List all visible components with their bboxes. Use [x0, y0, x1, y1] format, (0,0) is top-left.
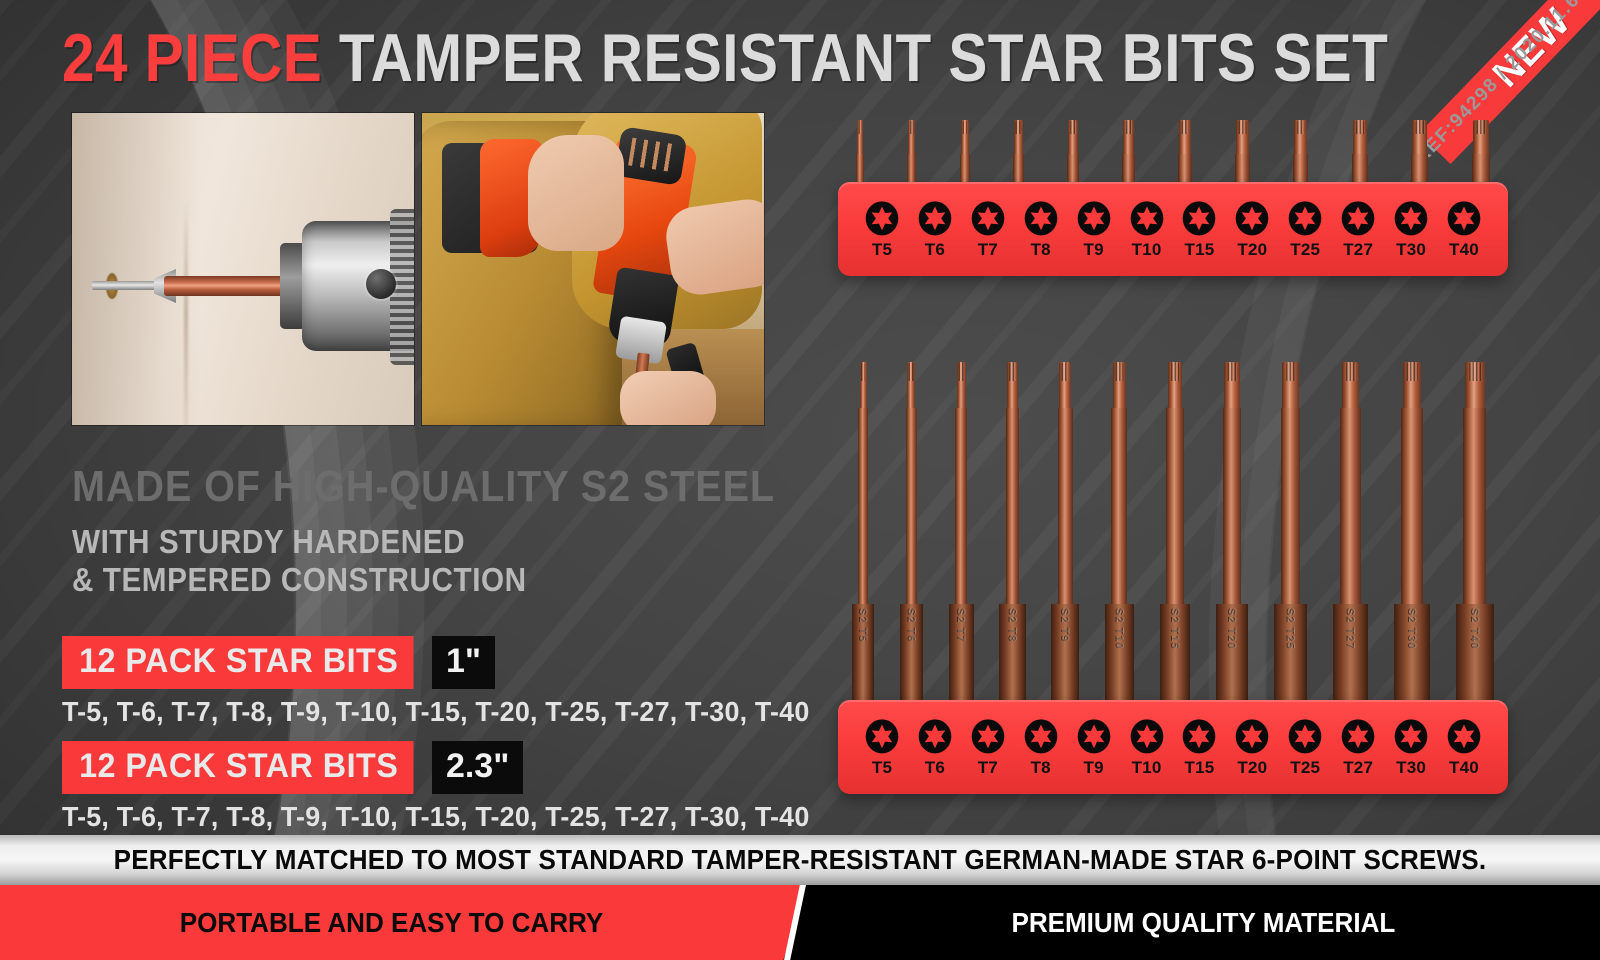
- star-bit-shank: [906, 408, 917, 604]
- long-holder-slots: T5T6T7T8T9T10T15T20T25T27T30T40: [856, 718, 1490, 778]
- photo-worker-using-cordless-drill: [422, 113, 764, 425]
- torx-star-icon: [1288, 200, 1322, 237]
- bit-slot[interactable]: T7: [962, 718, 1014, 778]
- star-bit-hex-shank: S2 T6: [900, 604, 923, 700]
- bit-slot[interactable]: T15: [1173, 200, 1225, 260]
- bit-slot[interactable]: T30: [1385, 718, 1437, 778]
- star-bit-tip: [1465, 362, 1485, 408]
- title-highlight: 24 PIECE: [62, 20, 322, 96]
- worker-upper-hand: [528, 135, 624, 251]
- star-bit-tip: [907, 362, 915, 408]
- star-bit: [903, 120, 920, 182]
- bit-slot[interactable]: T25: [1279, 718, 1331, 778]
- bit-slot[interactable]: T30: [1385, 200, 1437, 260]
- star-bit-engraving: S2 T10: [1113, 608, 1125, 649]
- star-bit-shank: [1352, 154, 1368, 182]
- star-bit-shank: [1281, 408, 1300, 604]
- torx-star-icon: [1341, 718, 1375, 755]
- star-bit-engraving: S2 T7: [955, 608, 967, 642]
- star-bit-engraving: S2 T5: [857, 608, 869, 642]
- star-bit-tip: [1113, 362, 1126, 408]
- long-bit-set: S2 T5S2 T6S2 T7S2 T8S2 T9S2 T10S2 T15S2 …: [838, 362, 1508, 794]
- bit-slot-label: T10: [1132, 758, 1162, 778]
- bit-slot[interactable]: T9: [1068, 200, 1120, 260]
- star-bit: S2 T15: [1160, 362, 1191, 700]
- bit-slot-label: T5: [872, 240, 892, 260]
- claim-right-text: PREMIUM QUALITY MATERIAL: [1011, 907, 1395, 939]
- bit-slot-label: T15: [1184, 758, 1214, 778]
- star-bit-shank: [856, 154, 864, 182]
- screw-shank: [92, 281, 158, 290]
- pack-1-size-list: T-5, T-6, T-7, T-8, T-9, T-10, T-15, T-2…: [62, 696, 809, 728]
- star-bit-tip: [908, 120, 915, 154]
- star-bit-engraving: S2 T6: [905, 608, 917, 642]
- bit-slot-label: T7: [978, 240, 998, 260]
- bit-slot[interactable]: T8: [1015, 200, 1067, 260]
- torx-star-icon: [865, 718, 899, 755]
- star-bit: S2 T25: [1274, 362, 1308, 700]
- torx-star-icon: [1235, 200, 1269, 237]
- star-bit: S2 T8: [999, 362, 1025, 700]
- star-bit-tip: [957, 362, 966, 408]
- star-bit: [956, 120, 974, 182]
- star-bit: S2 T30: [1394, 362, 1431, 700]
- star-bit: [1118, 120, 1139, 182]
- star-bit-tip: [1353, 120, 1367, 154]
- star-bit-shank: [1411, 154, 1428, 182]
- pack-2-title-badge: 12 PACK STAR BITS: [62, 741, 413, 794]
- star-bit: S2 T7: [949, 362, 974, 700]
- star-bit-tip: [1294, 120, 1307, 154]
- claim-left-panel: PORTABLE AND EASY TO CARRY: [0, 885, 806, 960]
- torx-star-icon: [1447, 718, 1481, 755]
- star-bit: [1231, 120, 1253, 182]
- torx-star-icon: [971, 200, 1005, 237]
- bit-slot[interactable]: T8: [1015, 718, 1067, 778]
- star-bit-tip: [1403, 362, 1422, 408]
- star-bit-shank: [1067, 154, 1079, 182]
- star-bit: [1174, 120, 1195, 182]
- compatibility-text: PERFECTLY MATCHED TO MOST STANDARD TAMPE…: [114, 844, 1487, 876]
- torx-star-icon: [1077, 200, 1111, 237]
- star-bit-shank: [1013, 154, 1024, 182]
- star-bit-shank: [1340, 408, 1361, 604]
- construction-line-1: WITH STURDY HARDENED: [72, 523, 527, 561]
- bit-slot-label: T27: [1343, 240, 1373, 260]
- torx-star-icon: [1077, 718, 1111, 755]
- claims-bar: PORTABLE AND EASY TO CARRY PREMIUM QUALI…: [0, 885, 1600, 960]
- short-bit-holder: T5T6T7T8T9T10T15T20T25T27T30T40: [838, 182, 1508, 276]
- star-bit-engraving: S2 T25: [1285, 608, 1297, 649]
- star-bit: S2 T5: [852, 362, 874, 700]
- star-bit-hex-shank: S2 T5: [852, 604, 874, 700]
- star-bit-hex-shank: S2 T7: [949, 604, 974, 700]
- bit-slot[interactable]: T27: [1332, 200, 1384, 260]
- torx-star-icon: [1394, 718, 1428, 755]
- star-bit-tip: [1412, 120, 1427, 154]
- star-bit-shank: [960, 154, 970, 182]
- bit-slot[interactable]: T40: [1438, 200, 1490, 260]
- star-bit-tip: [857, 120, 863, 154]
- star-bit: S2 T6: [900, 362, 923, 700]
- star-bit-hex-shank: S2 T27: [1333, 604, 1368, 700]
- star-bit-engraving: S2 T40: [1469, 608, 1481, 649]
- bit-slot[interactable]: T20: [1226, 718, 1278, 778]
- bit-slot-label: T9: [1084, 240, 1104, 260]
- construction-line-2: & TEMPERED CONSTRUCTION: [72, 561, 527, 599]
- bit-slot-label: T15: [1184, 240, 1214, 260]
- star-bit-engraving: S2 T8: [1006, 608, 1018, 642]
- chuck-key-hole: [366, 269, 396, 299]
- star-bit-engraving: S2 T27: [1345, 608, 1357, 649]
- star-bit-tip: [1068, 120, 1078, 154]
- torx-star-icon: [918, 200, 952, 237]
- long-bits-row: S2 T5S2 T6S2 T7S2 T8S2 T9S2 T10S2 T15S2 …: [838, 362, 1508, 700]
- long-bit-holder: T5T6T7T8T9T10T15T20T25T27T30T40: [838, 700, 1508, 794]
- star-bit-shank: [1463, 408, 1486, 604]
- star-bit-tip: [1123, 120, 1134, 154]
- bit-slot-label: T30: [1396, 758, 1426, 778]
- bit-slot[interactable]: T9: [1068, 718, 1120, 778]
- star-bit-tip: [860, 362, 867, 408]
- star-bit-tip: [961, 120, 969, 154]
- star-bit-shank: [1058, 408, 1073, 604]
- star-bit-hex-shank: S2 T10: [1105, 604, 1134, 700]
- star-bit-tip: [1224, 362, 1239, 408]
- star-bit-shank: [1166, 408, 1183, 604]
- star-bit-shank: [1223, 408, 1241, 604]
- star-bit-shank: [1235, 154, 1249, 182]
- pack-2-size-badge: 2.3": [432, 741, 523, 794]
- bit-slot-label: T8: [1031, 758, 1051, 778]
- star-bit-engraving: S2 T9: [1059, 608, 1071, 642]
- torx-star-icon: [918, 718, 952, 755]
- star-bit-tip: [1342, 362, 1360, 408]
- bit-slot-label: T20: [1237, 758, 1267, 778]
- compatibility-bar: PERFECTLY MATCHED TO MOST STANDARD TAMPE…: [0, 835, 1600, 885]
- star-bit-tip: [1473, 120, 1489, 154]
- star-bit: S2 T40: [1456, 362, 1494, 700]
- material-headline: MADE OF HIGH-QUALITY S2 STEEL: [72, 462, 775, 512]
- star-bit-engraving: S2 T15: [1169, 608, 1181, 649]
- pack-1-size-badge: 1": [432, 636, 495, 689]
- torx-star-icon: [1341, 200, 1375, 237]
- star-bit-tip: [1179, 120, 1190, 154]
- torx-star-icon: [1024, 200, 1058, 237]
- photo-drill-chuck-driving-screw: [72, 113, 414, 425]
- pack-1-badges: 12 PACK STAR BITS 1": [62, 636, 495, 689]
- bit-slot-label: T20: [1237, 240, 1267, 260]
- star-bit-hex-shank: S2 T30: [1394, 604, 1431, 700]
- bit-slot-label: T8: [1031, 240, 1051, 260]
- photo-gallery: [72, 113, 764, 425]
- bit-slot-label: T25: [1290, 758, 1320, 778]
- bit-slot-label: T30: [1396, 240, 1426, 260]
- star-bit: S2 T9: [1051, 362, 1079, 700]
- star-bit: [1468, 120, 1494, 182]
- bit-slot-label: T5: [872, 758, 892, 778]
- torx-star-icon: [1182, 200, 1216, 237]
- bit-slot[interactable]: T7: [962, 200, 1014, 260]
- star-bit-shank: [1111, 408, 1127, 604]
- star-bit-shank: [907, 154, 916, 182]
- wall-seam: [184, 199, 188, 425]
- star-bit: S2 T10: [1105, 362, 1134, 700]
- star-bit-hex-shank: S2 T8: [999, 604, 1025, 700]
- torx-star-icon: [971, 718, 1005, 755]
- star-bit: S2 T20: [1216, 362, 1248, 700]
- pack-1-title-badge: 12 PACK STAR BITS: [62, 636, 413, 689]
- page-title: 24 PIECE TAMPER RESISTANT STAR BITS SET: [62, 22, 1388, 94]
- bit-slot[interactable]: T10: [1121, 200, 1173, 260]
- product-banner: 24 PIECE TAMPER RESISTANT STAR BITS SET …: [0, 0, 1600, 960]
- star-bit: [1289, 120, 1312, 182]
- bit-slot-label: T6: [925, 240, 945, 260]
- pack-2-badges: 12 PACK STAR BITS 2.3": [62, 741, 523, 794]
- star-bit-shank: [1178, 154, 1191, 182]
- torx-star-icon: [1130, 200, 1164, 237]
- claim-right-panel: PREMIUM QUALITY MATERIAL: [806, 885, 1600, 960]
- torx-star-icon: [1130, 718, 1164, 755]
- short-bits-row: [838, 120, 1508, 182]
- bit-slot[interactable]: T27: [1332, 718, 1384, 778]
- bit-slot-label: T40: [1449, 758, 1479, 778]
- star-bit-tip: [1236, 120, 1248, 154]
- star-bit-shank: [1293, 154, 1308, 182]
- star-bit-shank: [1472, 154, 1490, 182]
- torx-star-icon: [1024, 718, 1058, 755]
- star-bit-tip: [1168, 362, 1182, 408]
- star-bit-hex-shank: S2 T40: [1456, 604, 1494, 700]
- star-bit-tip: [1014, 120, 1023, 154]
- star-bit: [1009, 120, 1028, 182]
- driver-bit-shaft: [164, 276, 290, 296]
- star-bit-shank: [858, 408, 868, 604]
- star-bit-hex-shank: S2 T15: [1160, 604, 1191, 700]
- bit-slot-label: T9: [1084, 758, 1104, 778]
- bit-slot[interactable]: T6: [909, 718, 961, 778]
- star-bit-shank: [1006, 408, 1020, 604]
- bit-slot-label: T25: [1290, 240, 1320, 260]
- bit-slot[interactable]: T15: [1173, 718, 1225, 778]
- bit-slot[interactable]: T5: [856, 200, 908, 260]
- star-bit-shank: [1401, 408, 1423, 604]
- star-bit-tip: [1059, 362, 1071, 408]
- star-bit-shank: [1122, 154, 1135, 182]
- bit-slot[interactable]: T20: [1226, 200, 1278, 260]
- pack-2-size-list: T-5, T-6, T-7, T-8, T-9, T-10, T-15, T-2…: [62, 801, 809, 833]
- torx-star-icon: [1235, 718, 1269, 755]
- pack-block-1: 12 PACK STAR BITS 1" T-5, T-6, T-7, T-8,…: [62, 636, 841, 728]
- star-bit-engraving: S2 T20: [1226, 608, 1238, 649]
- star-bit-hex-shank: S2 T9: [1051, 604, 1079, 700]
- star-bit-engraving: S2 T30: [1406, 608, 1418, 649]
- star-bit-hex-shank: S2 T20: [1216, 604, 1248, 700]
- bit-slot-label: T10: [1132, 240, 1162, 260]
- torx-star-icon: [865, 200, 899, 237]
- star-bit-tip: [1282, 362, 1298, 408]
- star-bit: [1063, 120, 1083, 182]
- claim-left-text: PORTABLE AND EASY TO CARRY: [180, 907, 603, 939]
- torx-star-icon: [1447, 200, 1481, 237]
- title-rest: TAMPER RESISTANT STAR BITS SET: [339, 20, 1388, 96]
- star-bit: S2 T27: [1333, 362, 1368, 700]
- bit-slot[interactable]: T40: [1438, 718, 1490, 778]
- star-bit: [1348, 120, 1372, 182]
- bit-slot[interactable]: T25: [1279, 200, 1331, 260]
- bit-slot-label: T40: [1449, 240, 1479, 260]
- worker-lower-hand: [620, 371, 716, 425]
- bit-slot[interactable]: T6: [909, 200, 961, 260]
- star-bit-hex-shank: S2 T25: [1274, 604, 1308, 700]
- star-bit-shank: [955, 408, 967, 604]
- bit-slot[interactable]: T5: [856, 718, 908, 778]
- torx-star-icon: [1394, 200, 1428, 237]
- torx-star-icon: [1288, 718, 1322, 755]
- star-bit-tip: [1007, 362, 1018, 408]
- torx-star-icon: [1182, 718, 1216, 755]
- bit-slot[interactable]: T10: [1121, 718, 1173, 778]
- short-holder-slots: T5T6T7T8T9T10T15T20T25T27T30T40: [856, 200, 1490, 260]
- bit-slot-label: T7: [978, 758, 998, 778]
- bit-slot-label: T6: [925, 758, 945, 778]
- star-bit: [1407, 120, 1432, 182]
- wall-shadow: [72, 113, 202, 425]
- construction-text: WITH STURDY HARDENED & TEMPERED CONSTRUC…: [72, 523, 527, 599]
- star-bit: [852, 120, 868, 182]
- pack-block-2: 12 PACK STAR BITS 2.3" T-5, T-6, T-7, T-…: [62, 741, 841, 833]
- short-bit-set: T5T6T7T8T9T10T15T20T25T27T30T40: [838, 120, 1508, 276]
- bit-slot-label: T27: [1343, 758, 1373, 778]
